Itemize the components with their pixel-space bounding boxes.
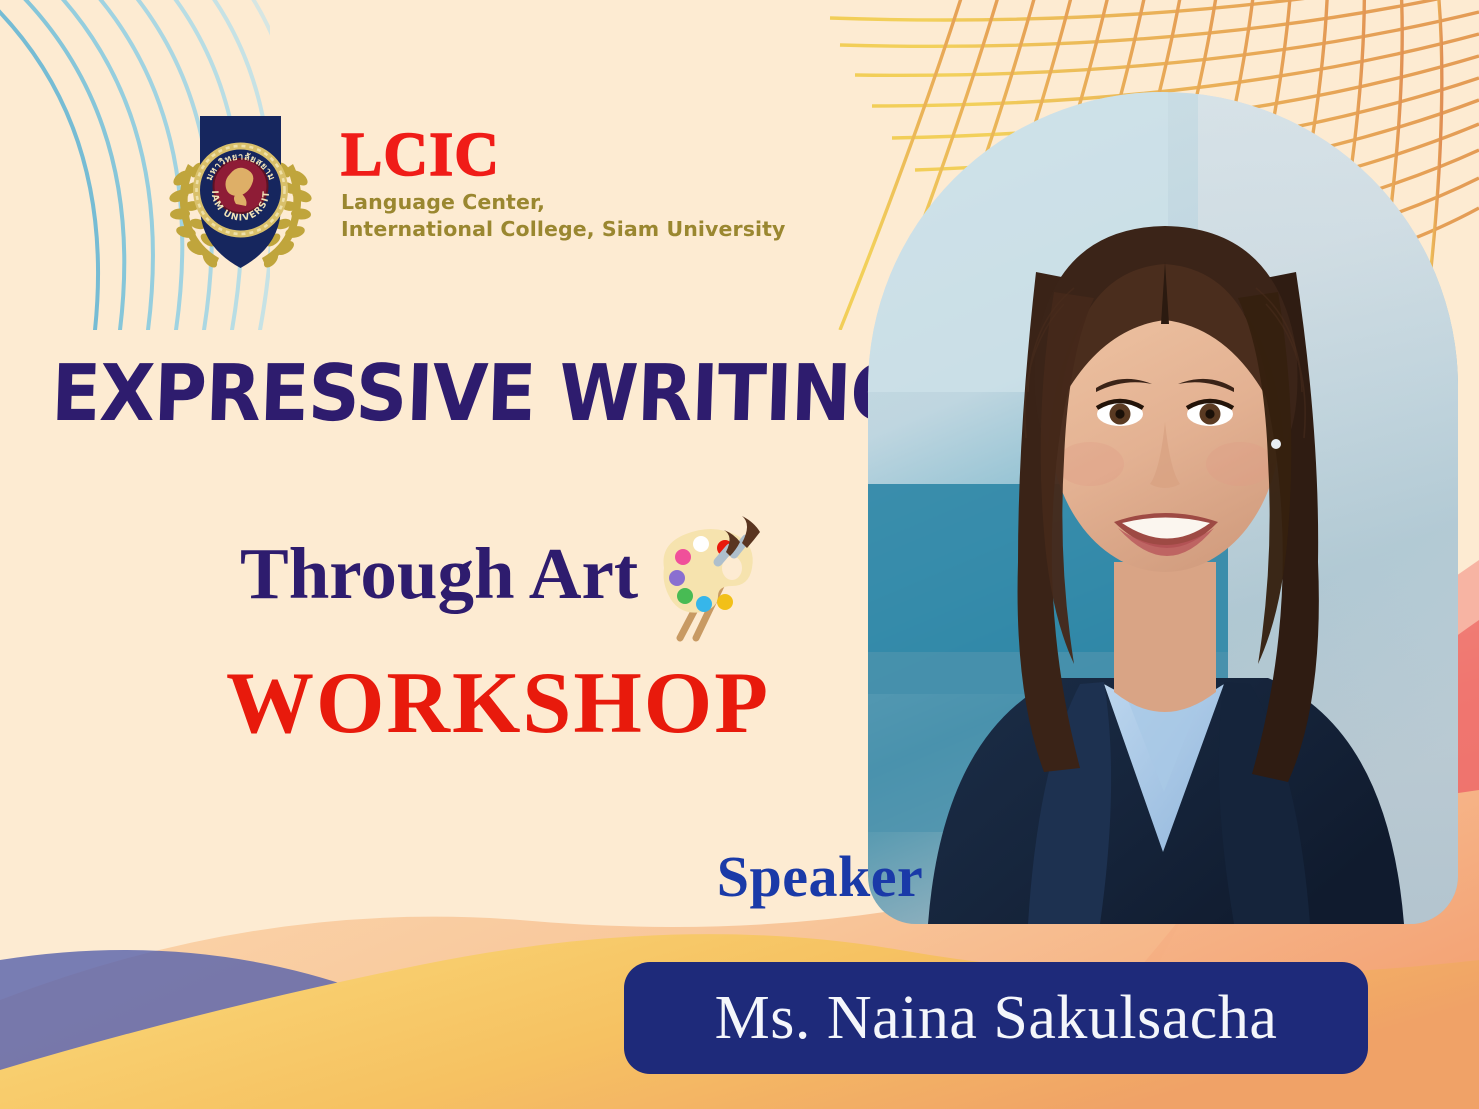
speaker-portrait-photo: [868, 92, 1458, 924]
headline-secondary-row: Through Art: [240, 500, 772, 646]
art-palette-icon: [652, 506, 772, 646]
logo-subtitle-line-2: International College, Siam University: [341, 216, 786, 243]
blue-wave-decor: [0, 950, 700, 1109]
logo-acronym: LCIC: [341, 126, 786, 185]
logo-wordmark: LCIC Language Center, International Coll…: [341, 108, 786, 243]
headline-secondary: Through Art: [240, 537, 638, 610]
lcic-logo: มหาวิทยาลัยสยาม SIAM UNIVERSITY LCIC Lan…: [158, 108, 786, 273]
speaker-name: Ms. Naina Sakulsacha: [715, 987, 1278, 1049]
speaker-name-banner: Ms. Naina Sakulsacha: [624, 962, 1368, 1074]
speaker-label: Speaker: [620, 848, 1020, 906]
poster-canvas: มหาวิทยาลัยสยาม SIAM UNIVERSITY LCIC Lan…: [0, 0, 1479, 1109]
headline-primary: EXPRESSIVE WRITING: [50, 355, 825, 433]
siam-university-crest-icon: มหาวิทยาลัยสยาม SIAM UNIVERSITY: [158, 108, 323, 273]
logo-subtitle-line-1: Language Center,: [341, 189, 786, 216]
headline-tertiary: WORKSHOP: [18, 660, 978, 748]
